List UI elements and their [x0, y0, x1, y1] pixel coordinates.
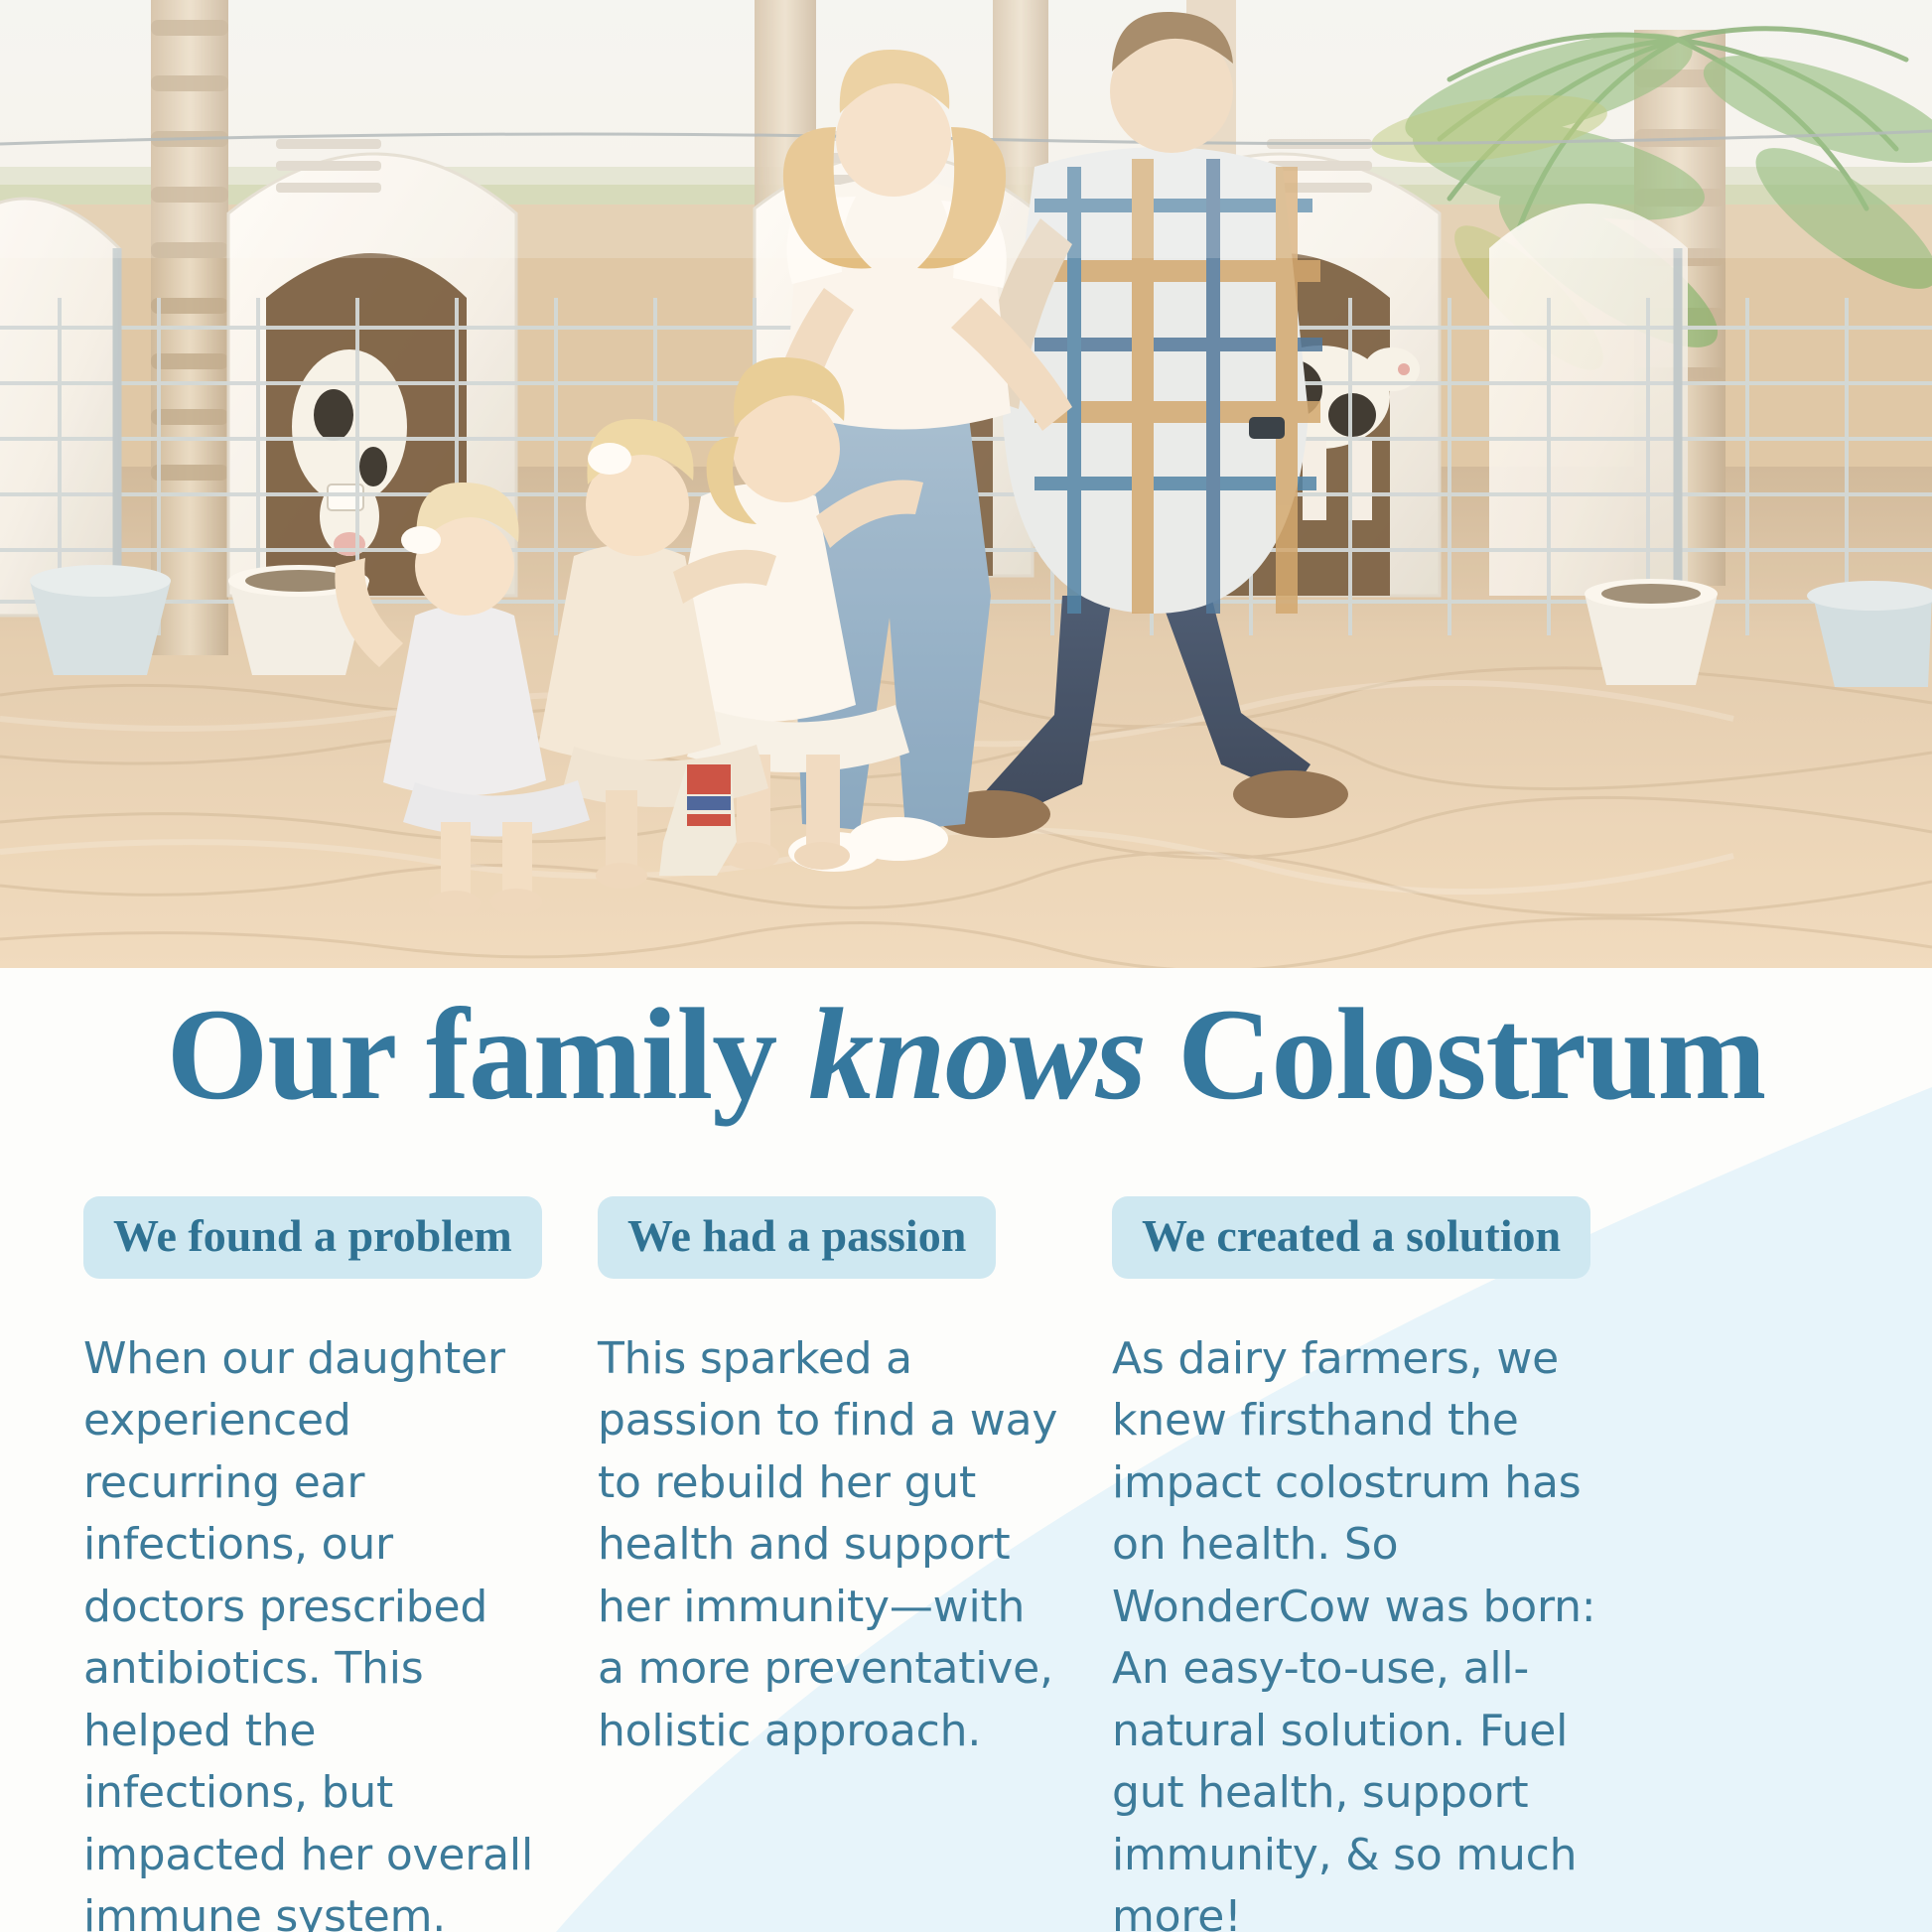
heading-part-1: Our family — [167, 981, 809, 1127]
farm-family-illustration — [0, 0, 1932, 968]
badge-we-found-a-problem: We found a problem — [83, 1196, 542, 1279]
story-column-solution: We created a solution As dairy farmers, … — [1112, 1196, 1620, 1932]
story-column-passion: We had a passion This sparked a passion … — [598, 1196, 1064, 1762]
badge-we-had-a-passion: We had a passion — [598, 1196, 996, 1279]
heading-emphasis: knows — [808, 981, 1146, 1127]
hero-photo — [0, 0, 1932, 968]
page-title: Our family knows Colostrum — [0, 986, 1932, 1124]
badge-we-created-a-solution: We created a solution — [1112, 1196, 1590, 1279]
story-body-solution: As dairy farmers, we knew firsthand the … — [1112, 1328, 1620, 1932]
story-body-passion: This sparked a passion to find a way to … — [598, 1328, 1064, 1762]
story-columns: We found a problem When our daughter exp… — [83, 1196, 1861, 1932]
story-body-problem: When our daughter experienced recurring … — [83, 1328, 550, 1932]
content-section: Our family knows Colostrum We found a pr… — [0, 968, 1932, 1932]
heading-part-2: Colostrum — [1146, 981, 1765, 1127]
promo-card: Our family knows Colostrum We found a pr… — [0, 0, 1932, 1932]
story-column-problem: We found a problem When our daughter exp… — [83, 1196, 550, 1932]
